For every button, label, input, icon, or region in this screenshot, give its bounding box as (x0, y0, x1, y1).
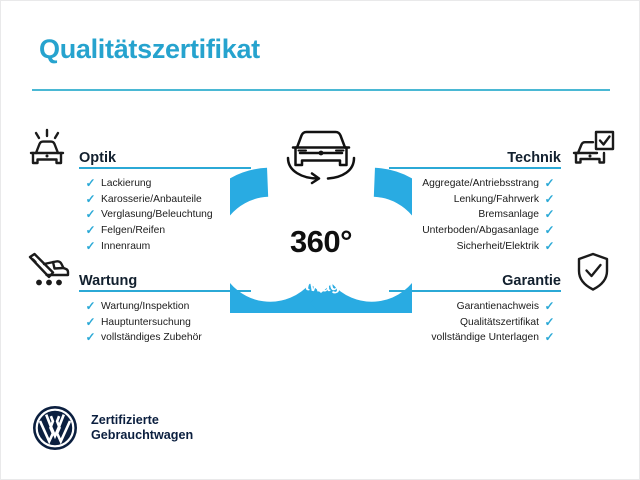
section-wartung: Wartung ✓ Wartung/Inspektion ✓ Hauptunte… (23, 266, 251, 346)
list-item-label: vollständige Unterlagen (431, 332, 539, 343)
section-header-garantie: Garantie (389, 266, 617, 292)
title-divider (32, 89, 610, 91)
section-title: Garantie (502, 273, 561, 289)
check-icon: ✓ (544, 225, 555, 236)
section-underline (79, 290, 251, 292)
check-icon: ✓ (85, 332, 96, 343)
list-item: ✓ Karosserie/Anbauteile (85, 192, 251, 208)
footer-brand-text: Zertifizierte Gebrauchtwagen (91, 413, 193, 444)
check-icon: ✓ (85, 241, 96, 252)
list-item-label: vollständiges Zubehör (101, 332, 202, 343)
list-item-label: Hauptuntersuchung (101, 317, 191, 328)
check-icon: ✓ (85, 209, 96, 220)
section-underline (79, 167, 251, 169)
check-icon: ✓ (544, 301, 555, 312)
list-item-label: Qualitätszertifikat (460, 317, 539, 328)
check-icon: ✓ (544, 194, 555, 205)
car-front-rotation-icon (293, 132, 349, 165)
checklist-wartung: ✓ Wartung/Inspektion ✓ Hauptuntersuchung… (23, 299, 251, 346)
list-item-label: Wartung/Inspektion (101, 301, 189, 312)
list-item-label: Sicherheit/Elektrik (457, 241, 539, 252)
list-item-label: Lenkung/Fahrwerk (454, 194, 539, 205)
list-item: ✓ vollständiges Zubehör (85, 330, 251, 346)
section-title: Technik (507, 150, 561, 166)
check-icon: ✓ (544, 241, 555, 252)
list-item: ✓ Felgen/Reifen (85, 223, 251, 239)
section-header-technik: Technik (389, 143, 617, 169)
list-item: Garantienachweis ✓ (389, 299, 555, 315)
section-underline (389, 290, 561, 292)
volkswagen-logo-icon (32, 405, 78, 451)
page-title: Qualitätszertifikat (39, 34, 260, 65)
check-icon: ✓ (85, 178, 96, 189)
checklist-garantie: Garantienachweis ✓ Qualitätszertifikat ✓… (389, 299, 617, 346)
list-item: Unterboden/Abgasanlage ✓ (389, 223, 555, 239)
check-icon: ✓ (544, 317, 555, 328)
list-item: ✓ Hauptuntersuchung (85, 315, 251, 331)
list-item: ✓ Lackierung (85, 176, 251, 192)
check-icon: ✓ (544, 209, 555, 220)
badge-360-gebrauchtwagen-check: Gebrauchtwagen-Check (230, 121, 412, 313)
list-item: Sicherheit/Elektrik ✓ (389, 238, 555, 254)
check-icon: ✓ (85, 301, 96, 312)
section-technik: Technik Aggregate/Antriebsstrang ✓ Lenku… (389, 143, 617, 254)
list-item: ✓ Innenraum (85, 238, 251, 254)
list-item: Bremsanlage ✓ (389, 207, 555, 223)
section-underline (389, 167, 561, 169)
section-header-wartung: Wartung (23, 266, 251, 292)
list-item-label: Bremsanlage (478, 209, 539, 220)
check-icon: ✓ (85, 194, 96, 205)
check-icon: ✓ (544, 332, 555, 343)
footer-brand: Zertifizierte Gebrauchtwagen (32, 405, 193, 451)
list-item-label: Aggregate/Antriebsstrang (422, 178, 539, 189)
footer-line-1: Zertifizierte (91, 413, 193, 429)
check-icon: ✓ (544, 178, 555, 189)
list-item-label: Innenraum (101, 241, 150, 252)
section-header-optik: Optik (23, 143, 251, 169)
section-title: Optik (79, 150, 116, 166)
list-item-label: Garantienachweis (457, 301, 539, 312)
list-item-label: Unterboden/Abgasanlage (422, 225, 539, 236)
section-title: Wartung (79, 273, 137, 289)
footer-line-2: Gebrauchtwagen (91, 428, 193, 444)
section-garantie: Garantie Garantienachweis ✓ Qualitätszer… (389, 266, 617, 346)
list-item-label: Felgen/Reifen (101, 225, 165, 236)
list-item: Lenkung/Fahrwerk ✓ (389, 192, 555, 208)
list-item: vollständige Unterlagen ✓ (389, 330, 555, 346)
section-optik: Optik ✓ Lackierung ✓ Karosserie/Anbautei… (23, 143, 251, 254)
list-item: ✓ Wartung/Inspektion (85, 299, 251, 315)
list-item-label: Verglasung/Beleuchtung (101, 209, 213, 220)
checklist-optik: ✓ Lackierung ✓ Karosserie/Anbauteile ✓ V… (23, 176, 251, 254)
badge-center-value: 360° (230, 224, 412, 260)
check-icon: ✓ (85, 317, 96, 328)
list-item-label: Karosserie/Anbauteile (101, 194, 202, 205)
checklist-technik: Aggregate/Antriebsstrang ✓ Lenkung/Fahrw… (389, 176, 617, 254)
list-item-label: Lackierung (101, 178, 151, 189)
list-item: Aggregate/Antriebsstrang ✓ (389, 176, 555, 192)
list-item: ✓ Verglasung/Beleuchtung (85, 207, 251, 223)
list-item: Qualitätszertifikat ✓ (389, 315, 555, 331)
certificate-page: Qualitätszertifikat Optik (0, 0, 640, 480)
check-icon: ✓ (85, 225, 96, 236)
